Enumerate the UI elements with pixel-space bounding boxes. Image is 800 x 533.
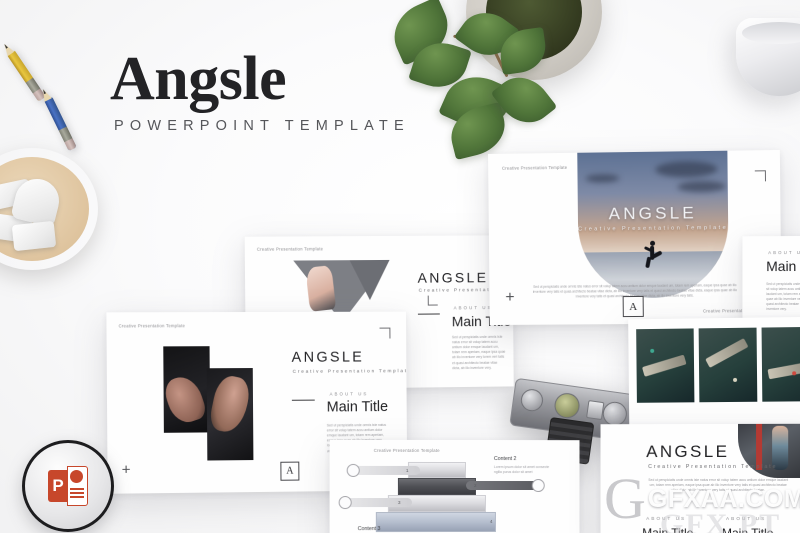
pyramid-label: Content 3 xyxy=(358,526,381,532)
slide-overlay-title: ANGSLE xyxy=(578,203,728,225)
eraser xyxy=(12,221,56,251)
cloud-shape xyxy=(655,161,717,178)
ppt-icon-letter: P xyxy=(48,470,68,502)
slide-body-text: Sed ut perspiciatis unde omnis iste natu… xyxy=(766,282,800,312)
slide-body-text: Sed ut perspiciatis unde omnis iste natu… xyxy=(648,478,788,493)
pyramid-sublabel: Lorem ipsum dolor sit amet consecte ngil… xyxy=(494,465,558,475)
slide-mockup-hero[interactable]: Creative Presentation Template ANGSLE Cr… xyxy=(488,150,782,325)
photo-highlight xyxy=(705,338,748,368)
bowl-inner xyxy=(0,157,89,261)
slide-brand: ANGSLE xyxy=(646,442,729,462)
photo-highlight xyxy=(767,361,800,379)
pyramid-node-icon xyxy=(339,496,352,509)
pyramid-node-icon xyxy=(347,464,360,477)
corner-bracket-icon xyxy=(428,296,438,306)
pyramid-label: Content 2 xyxy=(494,456,516,462)
wooden-bowl-with-erasers xyxy=(0,148,98,270)
cloud-shape xyxy=(677,181,725,193)
slide-tag: Creative Presentation Template xyxy=(752,317,800,319)
plus-icon: + xyxy=(505,289,514,307)
pyramid-layer xyxy=(398,478,476,495)
slide-rule xyxy=(418,313,440,314)
powerpoint-badge: P xyxy=(22,440,114,532)
camera-viewfinder-icon xyxy=(586,400,604,420)
photo-panel xyxy=(163,346,210,433)
ppt-icon-line xyxy=(70,496,84,498)
pyramid-connector xyxy=(350,466,420,475)
silhouette-figure xyxy=(644,240,660,268)
pyramid-number: 3 xyxy=(398,500,401,505)
pencil-eraser-end xyxy=(64,138,76,151)
slide-about-label: ABOUT US xyxy=(454,305,493,310)
slide-mockup-pyramid[interactable]: Creative Presentation Template 1 2 3 4 C… xyxy=(330,440,580,533)
triangle-shape xyxy=(350,260,390,300)
slide-tag: Creative Presentation Template xyxy=(374,448,440,453)
pencil-blue xyxy=(44,97,77,151)
pyramid-number: 2 xyxy=(474,483,477,488)
semicircle-beach-photo: ANGSLE Creative Presentation Template xyxy=(577,150,729,298)
slide-brand-sub: Creative Presentation Template xyxy=(648,464,777,470)
slide-brand: ANGSLE xyxy=(418,269,489,285)
ppt-icon-line xyxy=(70,492,84,494)
photo-accent-dot xyxy=(650,349,654,353)
ppt-icon-pie xyxy=(70,470,83,483)
slide-main-title: Main Title xyxy=(766,258,800,274)
photo-panel xyxy=(207,368,254,460)
plus-icon: + xyxy=(122,461,131,478)
page-title: Angsle xyxy=(110,48,286,110)
slide-about-label: ABOUT US xyxy=(768,250,800,255)
pyramid-number: 4 xyxy=(490,519,493,524)
slide-about-label: ABOUT US xyxy=(330,391,369,396)
corner-bracket-icon xyxy=(755,170,766,181)
model-photo xyxy=(208,373,253,435)
photo-highlight xyxy=(642,355,687,377)
pyramid-connector xyxy=(466,481,540,490)
slide-mockup-photo-grid[interactable]: Creative Presentation Template xyxy=(628,317,800,429)
photo-panel xyxy=(636,328,694,402)
photo-panel xyxy=(699,328,758,403)
slide-a-badge: A xyxy=(280,462,299,481)
ppt-icon-line xyxy=(70,488,84,490)
watermark-shadow-text: GFX PT xyxy=(660,508,781,533)
photo-accent-dot xyxy=(733,378,737,382)
pyramid-connector xyxy=(342,498,412,507)
pyramid-number: 1 xyxy=(406,468,409,473)
page-subtitle: POWERPOINT TEMPLATE xyxy=(114,118,410,134)
slide-overlay-subtitle: Creative Presentation Template xyxy=(578,225,728,233)
slide-brand: ANGSLE xyxy=(292,350,365,366)
slide-brand-sub: Creative Presentation Template xyxy=(293,368,408,374)
corner-bracket-icon xyxy=(380,328,391,339)
slide-main-title: Main Title xyxy=(327,399,388,415)
powerpoint-icon: P xyxy=(48,466,88,506)
model-photo xyxy=(161,372,208,427)
photo-accent-dot xyxy=(792,371,796,375)
slide-body-text: Sed ut perspiciatis unde omnis iste natu… xyxy=(452,335,506,371)
slide-rule xyxy=(292,400,315,401)
figure-leg xyxy=(645,257,651,269)
slide-tag: Creative Presentation Template xyxy=(257,246,323,251)
photo-panel xyxy=(762,327,800,402)
slide-tag: Creative Presentation Template xyxy=(119,323,186,328)
pyramid-layer xyxy=(376,512,496,532)
cup-rim xyxy=(742,22,800,44)
slide-tag: Creative Presentation Template xyxy=(502,165,567,171)
cloud-shape xyxy=(585,174,619,182)
pyramid-node-icon xyxy=(532,479,545,492)
slide-a-badge: A xyxy=(623,296,644,317)
coffee-cup xyxy=(736,18,800,96)
product-preview-canvas: Angsle POWERPOINT TEMPLATE Creative Pres… xyxy=(0,0,800,533)
